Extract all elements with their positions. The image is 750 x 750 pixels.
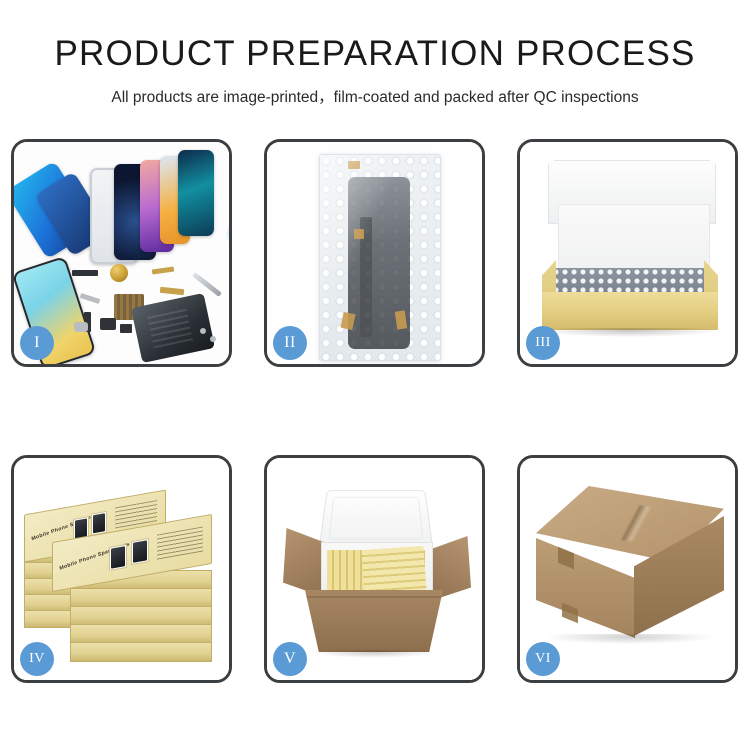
flex-cable-icon <box>152 266 174 274</box>
ic-chip-icon <box>120 324 132 333</box>
page-title: PRODUCT PREPARATION PROCESS <box>0 36 750 73</box>
metal-bracket-icon <box>80 293 101 304</box>
box-spec-lines-front <box>157 526 203 560</box>
step-badge-3: III <box>526 326 560 360</box>
carton-left-face-icon <box>536 538 635 638</box>
step-badge-5: V <box>273 642 307 676</box>
box-thumbnail-front-2 <box>131 538 149 565</box>
tape-top-icon <box>348 161 360 169</box>
step-badge-2: II <box>273 326 307 360</box>
step-badge-6: VI <box>526 642 560 676</box>
process-step-panel-6[interactable]: VI <box>517 455 738 683</box>
tape-mid-icon <box>354 229 364 239</box>
box-shadow-icon <box>544 328 716 337</box>
screw-icon <box>200 328 206 334</box>
phone-teal-icon <box>178 150 214 236</box>
page-subtitle: All products are image-printed，film-coat… <box>0 85 750 107</box>
process-step-panel-5[interactable]: V <box>264 455 485 683</box>
step-badge-4: IV <box>20 642 54 676</box>
stacked-box-front-4 <box>70 588 212 608</box>
process-step-panel-2[interactable]: II <box>264 139 485 367</box>
box-thumbnail-front-1 <box>109 544 127 571</box>
stacked-box-front-2 <box>70 624 212 644</box>
carton-body-icon <box>305 590 443 652</box>
stacked-box-front-3 <box>70 606 212 626</box>
foam-sheet-icon <box>558 204 710 272</box>
flex-cable-2-icon <box>160 287 184 295</box>
styrofoam-lid-icon <box>319 490 433 548</box>
screen-crack-icon <box>226 222 229 246</box>
process-step-panel-3[interactable]: III <box>517 139 738 367</box>
step-badge-1: I <box>20 326 54 360</box>
small-component-icon <box>74 322 88 332</box>
stacked-box-front-1 <box>70 642 212 662</box>
process-step-panel-4[interactable]: Mobile Phone Spare Parts Mobile Phone Sp… <box>11 455 232 683</box>
speaker-part-icon <box>72 270 98 276</box>
camera-lens-icon <box>110 264 128 282</box>
process-step-panel-1[interactable]: I <box>11 139 232 367</box>
process-steps-grid: I II <box>11 139 739 683</box>
sealed-carton-shadow-icon <box>546 634 712 644</box>
screw-2-icon <box>210 336 216 342</box>
bubble-wrap-bag-icon <box>319 154 441 361</box>
page-header: PRODUCT PREPARATION PROCESS All products… <box>0 0 750 107</box>
battery-connector-icon <box>100 318 116 330</box>
yellow-boxes-row-2-icon <box>362 546 427 594</box>
carton-shadow-icon <box>313 650 435 658</box>
box-front-panel-icon <box>542 292 718 330</box>
